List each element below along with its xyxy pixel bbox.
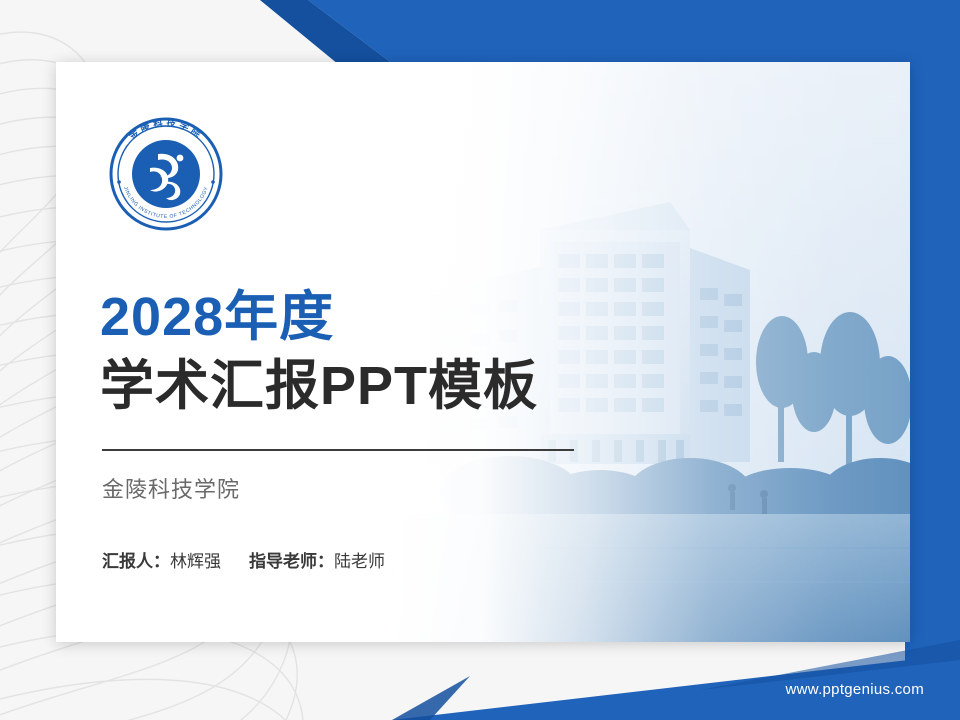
presenter-meta: 汇报人：林辉强指导老师：陆老师	[102, 547, 385, 572]
title-year: 2028年度	[100, 290, 334, 344]
jinling-institute-of-technology-emblem: 金陵科技学院 JINLING INSTITUTE OF TECHNOLOGY	[100, 108, 232, 240]
advisor-name: 陆老师	[334, 552, 385, 571]
title-divider	[102, 449, 574, 451]
photo-white-fade	[390, 62, 910, 642]
presentation-slide: 金陵科技学院 JINLING INSTITUTE OF TECHNOLOGY 2…	[0, 0, 960, 720]
content-card: 金陵科技学院 JINLING INSTITUTE OF TECHNOLOGY 2…	[56, 62, 910, 642]
subtitle-institution: 金陵科技学院	[102, 472, 240, 504]
page-title: 学术汇报PPT模板	[100, 359, 538, 413]
advisor-label: 指导老师：	[249, 552, 334, 571]
presenter-label: 汇报人：	[102, 552, 170, 571]
presenter-name: 林辉强	[170, 552, 221, 571]
footer-url: www.pptgenius.com	[786, 681, 925, 698]
campus-building-photo	[390, 62, 910, 642]
